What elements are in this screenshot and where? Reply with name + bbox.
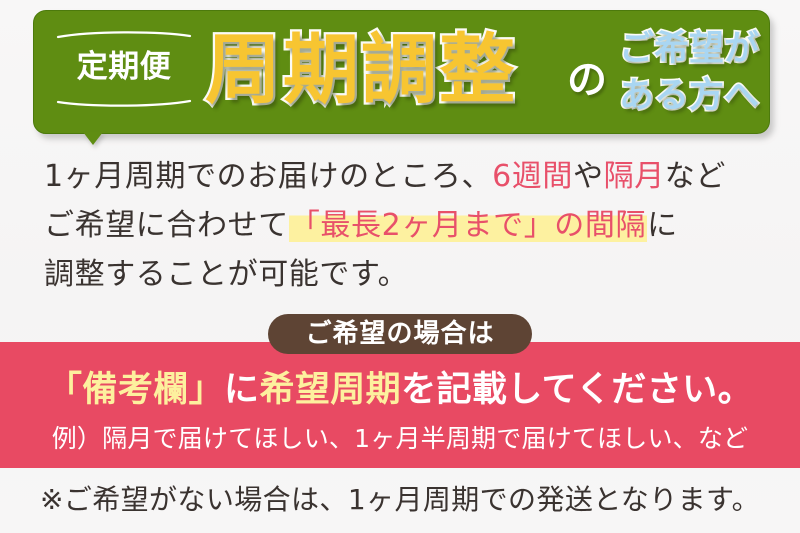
subscription-label-group: 定期便: [57, 30, 191, 108]
header-audience-line2: ある方へ: [614, 73, 764, 120]
pink-emphasis-desired-cycle: 希望周期: [259, 370, 401, 410]
body-line2-highlight-max2months: 「最長2ヶ月まで」の間隔: [289, 208, 647, 243]
body-line1-part2: や: [573, 159, 604, 194]
pink-callout-band: 「備考欄」に希望周期を記載してください。 例）隔月で届けてほしい、1ヶ月半周期で…: [0, 342, 800, 468]
wavy-line-bottom-icon: [57, 99, 191, 108]
wavy-line-top-icon: [57, 30, 191, 39]
pink-main-part1: に: [224, 370, 259, 410]
body-line2-part1: ご希望に合わせて: [44, 208, 289, 243]
body-line1-emphasis-bimonthly: 隔月: [604, 159, 665, 194]
body-line2-part2: に: [647, 208, 678, 243]
body-line-1: 1ヶ月周期でのお届けのところ、6週間や隔月など: [44, 152, 768, 201]
header-particle: の: [567, 56, 607, 104]
speech-bubble-tail-icon: [83, 132, 103, 145]
header-title: 周期調整: [205, 22, 517, 118]
footer-note: ※ご希望がない場合は、1ヶ月周期での発送となります。: [0, 478, 800, 522]
body-line1-emphasis-6weeks: 6週間: [492, 159, 573, 194]
header-audience-line1: ご希望が: [619, 29, 759, 69]
body-line-3: 調整することが可能です。: [44, 250, 768, 299]
subscription-label: 定期便: [57, 44, 191, 90]
request-case-badge: ご希望の場合は: [268, 314, 532, 354]
body-line1-part3: など: [665, 159, 726, 194]
body-line-2: ご希望に合わせて「最長2ヶ月まで」の間隔に: [44, 201, 768, 250]
pink-band-main-text: 「備考欄」に希望周期を記載してください。: [0, 364, 800, 416]
header-audience-text: ご希望が ある方へ: [614, 26, 764, 120]
pink-main-part2: を記載してください。: [401, 370, 753, 410]
pink-emphasis-remarks-field: 「備考欄」: [47, 370, 224, 410]
body-line3-part1: 調整することが可能です。: [44, 257, 408, 292]
pink-band-example-text: 例）隔月で届けてほしい、1ヶ月半周期で届けてほしい、など: [0, 420, 800, 458]
body-paragraph: 1ヶ月周期でのお届けのところ、6週間や隔月など ご希望に合わせて「最長2ヶ月まで…: [44, 152, 768, 299]
body-line1-part1: 1ヶ月周期でのお届けのところ、: [44, 159, 492, 194]
promo-banner: 定期便 周期調整 の ご希望が ある方へ 1ヶ月周期でのお届けのところ、6週間や…: [0, 0, 800, 533]
